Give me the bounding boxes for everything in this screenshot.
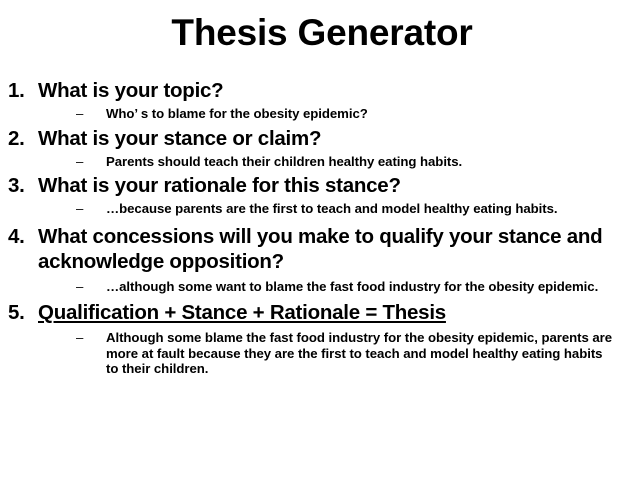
thesis-steps-list: 1. What is your topic? – Who’ s to blame…	[0, 78, 644, 377]
list-item-2: 2. What is your stance or claim? – Paren…	[0, 126, 644, 170]
list-item-4-heading: What concessions will you make to qualif…	[38, 224, 630, 274]
list-item-1-number: 1.	[8, 78, 38, 103]
list-item-1-sub-1: – Who’ s to blame for the obesity epidem…	[38, 106, 630, 122]
dash-bullet-icon: –	[76, 330, 83, 346]
dash-bullet-icon: –	[76, 154, 83, 170]
list-item-3-sub-1-text: …because parents are the first to teach …	[106, 201, 616, 217]
dash-bullet-icon: –	[76, 201, 83, 217]
list-item-1-sublist: – Who’ s to blame for the obesity epidem…	[38, 106, 630, 122]
list-item-2-sub-1: – Parents should teach their children he…	[38, 154, 630, 170]
list-item-3-sublist: – …because parents are the first to teac…	[38, 201, 630, 217]
dash-bullet-icon: –	[76, 106, 83, 122]
list-item-3-heading: What is your rationale for this stance?	[38, 173, 630, 198]
list-item-4: 4. What concessions will you make to qua…	[0, 224, 644, 295]
list-item-5-sublist: – Although some blame the fast food indu…	[38, 330, 630, 377]
dash-bullet-icon: –	[76, 279, 83, 295]
list-item-5-sub-1-text: Although some blame the fast food indust…	[106, 330, 616, 377]
list-item-3-number: 3.	[8, 173, 38, 198]
slide-canvas: Thesis Generator 1. What is your topic? …	[0, 0, 644, 483]
list-item-4-sublist: – …although some want to blame the fast …	[38, 279, 630, 295]
list-item-5: 5. Qualification + Stance + Rationale = …	[0, 300, 644, 377]
list-item-5-number: 5.	[8, 300, 38, 325]
list-item-5-heading: Qualification + Stance + Rationale = The…	[38, 300, 630, 325]
list-item-1: 1. What is your topic? – Who’ s to blame…	[0, 78, 644, 122]
list-item-2-sublist: – Parents should teach their children he…	[38, 154, 630, 170]
page-title: Thesis Generator	[0, 11, 644, 55]
list-item-2-number: 2.	[8, 126, 38, 151]
list-item-4-number: 4.	[8, 224, 38, 249]
list-item-5-sub-1: – Although some blame the fast food indu…	[38, 330, 630, 377]
list-item-2-sub-1-text: Parents should teach their children heal…	[106, 154, 616, 170]
list-item-3: 3. What is your rationale for this stanc…	[0, 173, 644, 217]
list-item-1-sub-1-text: Who’ s to blame for the obesity epidemic…	[106, 106, 616, 122]
list-item-1-heading: What is your topic?	[38, 78, 630, 103]
list-item-4-sub-1-text: …although some want to blame the fast fo…	[106, 279, 616, 295]
list-item-3-sub-1: – …because parents are the first to teac…	[38, 201, 630, 217]
list-item-2-heading: What is your stance or claim?	[38, 126, 630, 151]
list-item-4-sub-1: – …although some want to blame the fast …	[38, 279, 630, 295]
